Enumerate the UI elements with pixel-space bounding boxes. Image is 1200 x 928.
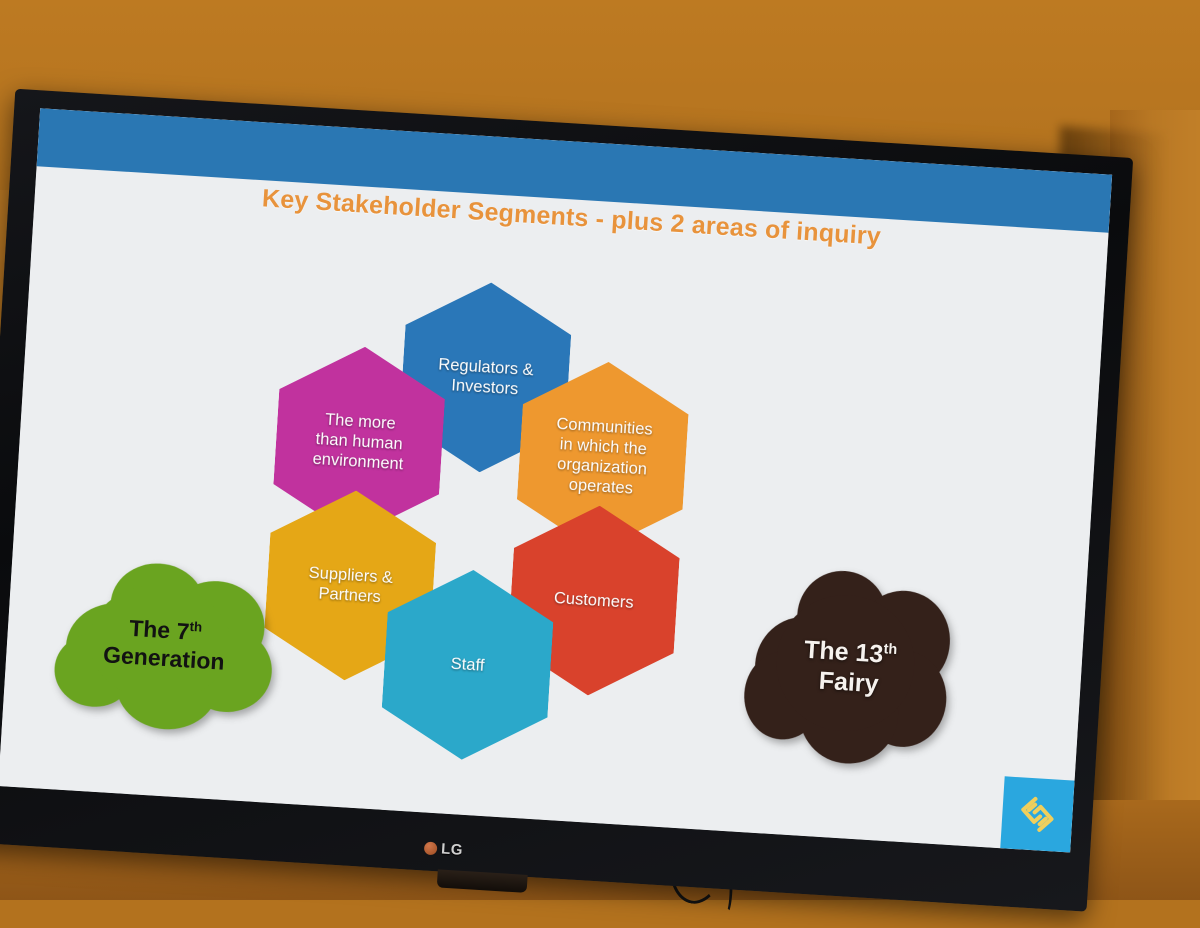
hexagon-label: Regulators &Investors	[437, 354, 535, 400]
knot-glyph-icon	[1013, 790, 1062, 839]
hexagon-label: Staff	[450, 654, 485, 676]
hexagon-label: Communitiesin which theorganizationopera…	[552, 414, 653, 500]
tv-screen: Key Stakeholder Segments - plus 2 areas …	[0, 108, 1112, 852]
cloud-line-1-superscript: th	[189, 619, 202, 635]
cloud-line-2: Generation	[103, 641, 226, 674]
hexagon-label: The morethan humanenvironment	[312, 409, 406, 475]
cloud-line-1-prefix: The 7	[129, 615, 191, 645]
presentation-slide: Key Stakeholder Segments - plus 2 areas …	[0, 108, 1112, 852]
cloud-seventh-generation[interactable]: The 7th Generation	[42, 550, 287, 739]
cloud-thirteenth-fairy[interactable]: The 13th Fairy	[736, 561, 963, 774]
lg-logo-icon	[424, 842, 438, 856]
lg-brand-mark: LG	[424, 840, 464, 859]
cloud-label: The 13th Fairy	[801, 635, 897, 701]
hexagon-label: Suppliers &Partners	[307, 563, 394, 608]
tv-brand-label: LG	[441, 841, 464, 859]
cloud-line-1-superscript: th	[883, 641, 898, 658]
cloud-label: The 7th Generation	[102, 613, 227, 676]
interlocking-knot-logo	[1000, 776, 1074, 852]
cloud-line-1-prefix: The 13	[803, 636, 884, 669]
stakeholder-hexagon-cluster: Regulators &Investors The morethan human…	[231, 240, 764, 815]
cloud-line-2: Fairy	[818, 667, 879, 699]
hexagon-label: Customers	[553, 588, 634, 613]
wall-mounted-television: LG Key Stakeholder Segments - plus 2 are…	[0, 89, 1133, 912]
